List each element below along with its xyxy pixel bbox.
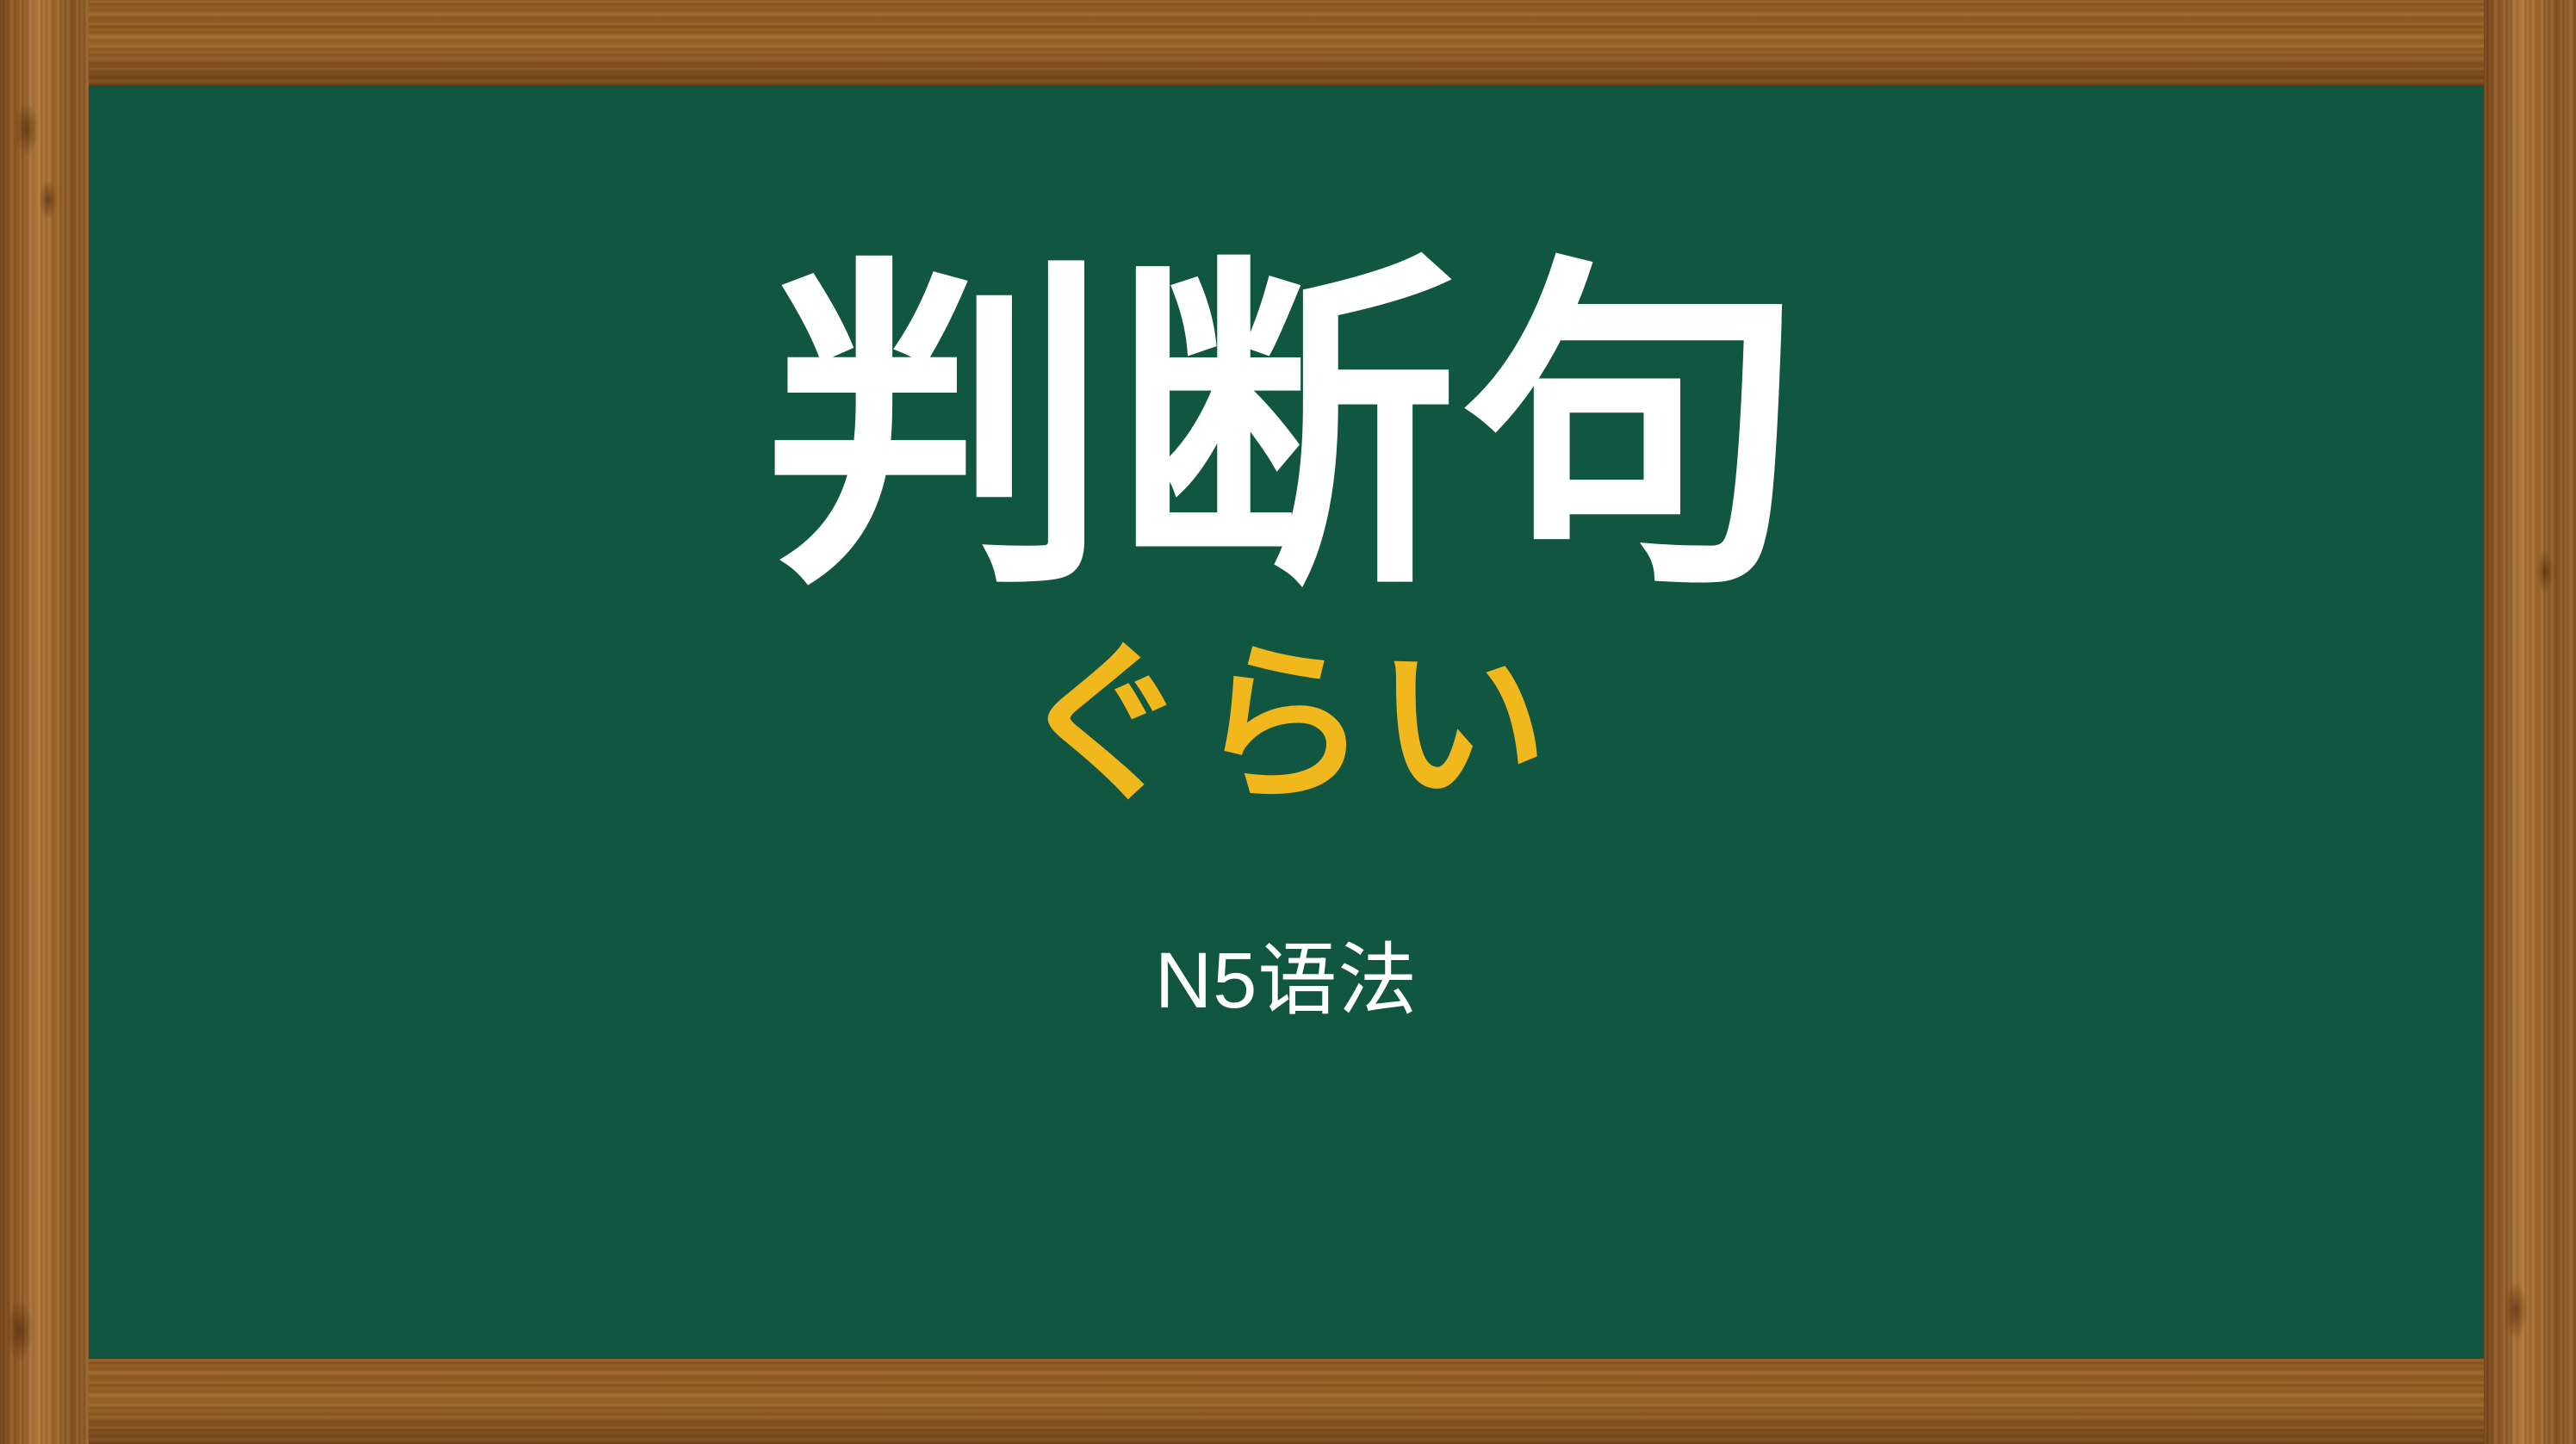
wood-knot-icon — [40, 181, 57, 219]
wood-frame-top — [0, 0, 2576, 85]
page-title: 判断句 — [765, 257, 1809, 602]
wood-frame-left — [0, 0, 89, 1444]
wood-knot-icon — [2537, 551, 2553, 592]
grammar-point-title: ぐらい — [1017, 640, 1555, 812]
board-text-block: 判断句 ぐらい N5语法 — [89, 85, 2484, 1359]
wood-knot-icon — [16, 103, 38, 155]
wood-frame-right — [2484, 0, 2576, 1444]
wood-knot-icon — [7, 1300, 33, 1360]
level-caption: N5语法 — [1155, 941, 1418, 1020]
wood-knot-icon — [2505, 1283, 2527, 1338]
wood-frame-bottom — [0, 1359, 2576, 1444]
slide-canvas: 判断句 ぐらい N5语法 — [0, 0, 2576, 1444]
